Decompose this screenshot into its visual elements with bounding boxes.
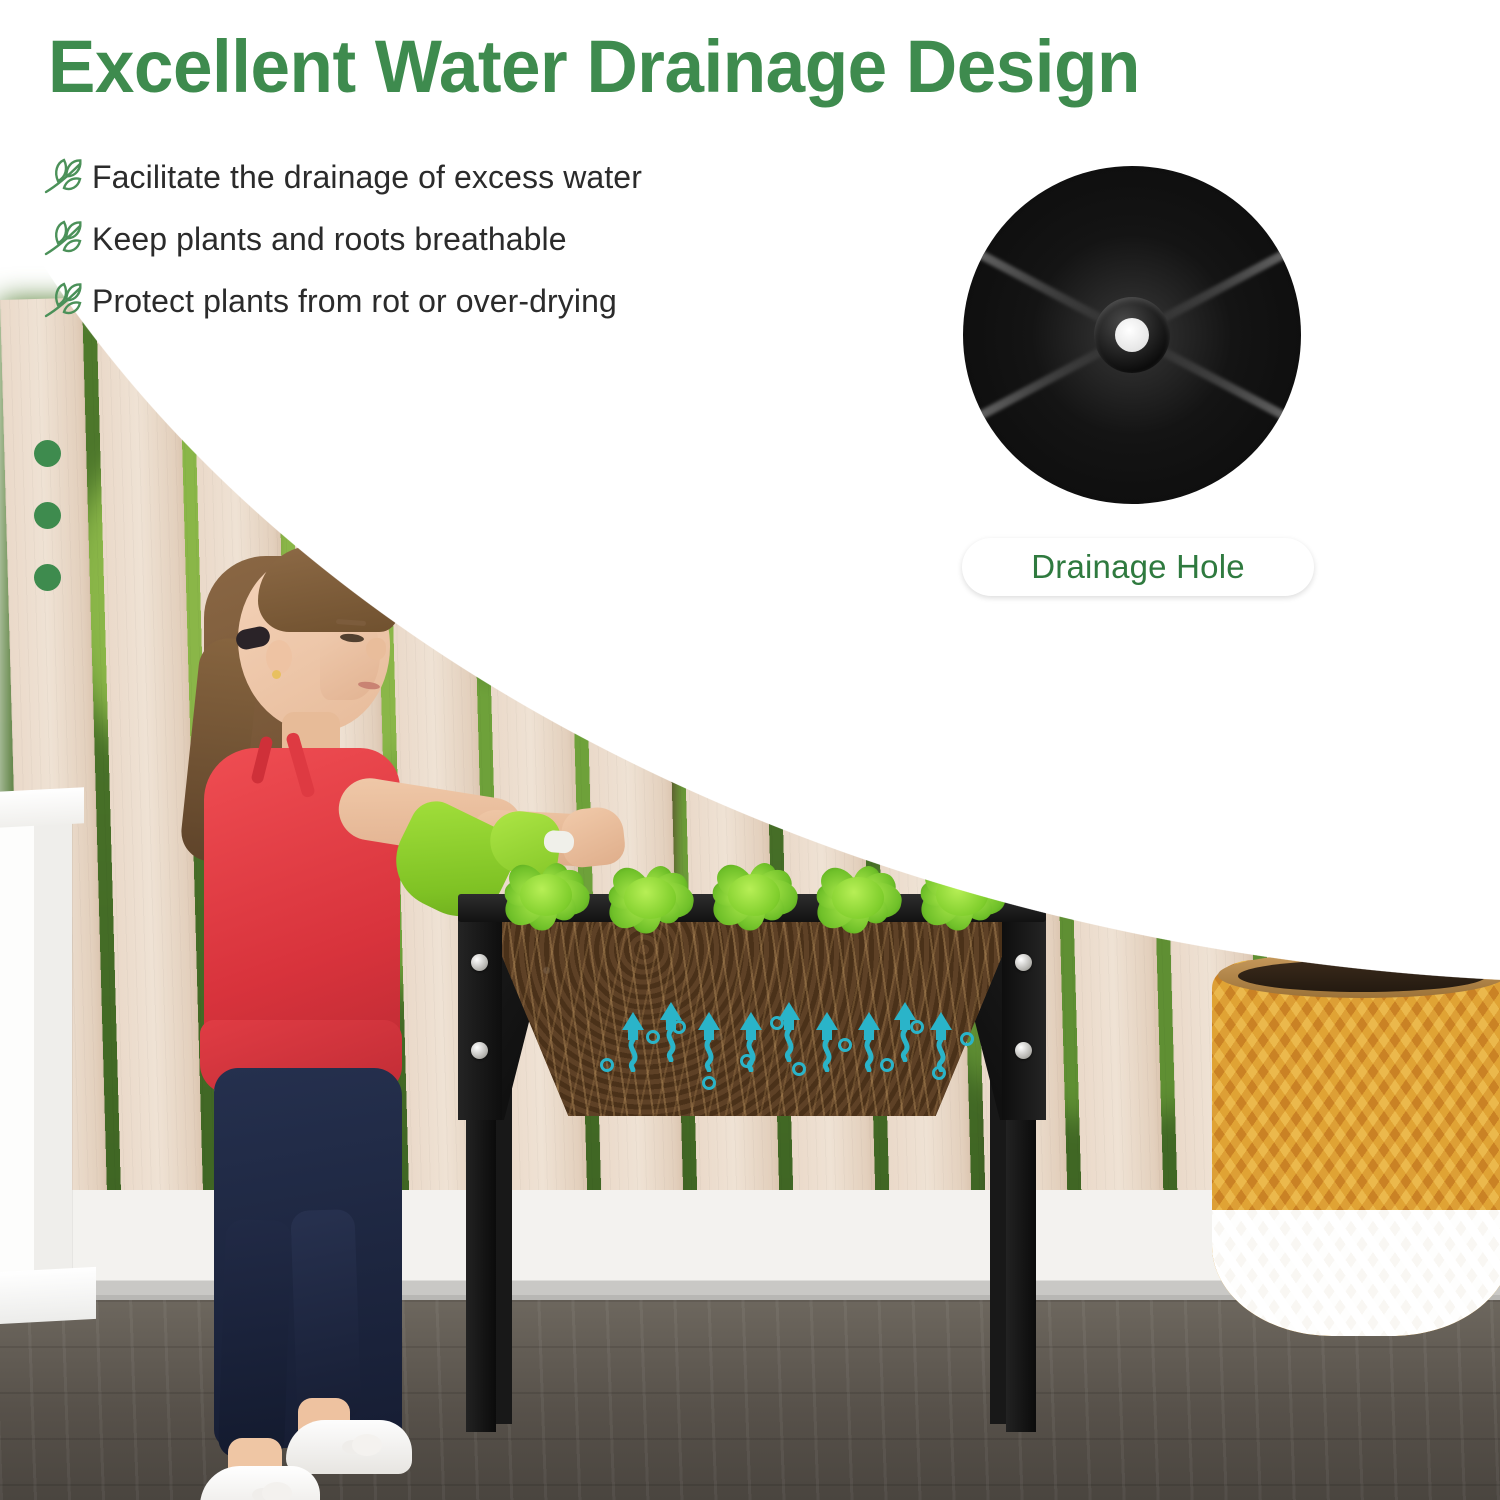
plant-core	[520, 874, 572, 916]
planter-leg-front-right	[1006, 1072, 1036, 1432]
frond-leaflet	[1081, 637, 1125, 648]
deck-railing-cap	[0, 787, 84, 828]
air-bubble	[880, 1058, 894, 1072]
air-bubble	[600, 1058, 614, 1072]
feature-list: Facilitate the drainage of excess water …	[36, 146, 836, 332]
planter-leg-front-left	[466, 1072, 496, 1432]
decorative-dot	[34, 440, 61, 467]
airflow-arrow	[856, 1010, 882, 1072]
frond-leaflet	[1102, 618, 1152, 628]
lettuce-plant	[694, 858, 812, 942]
basket-soil	[1238, 960, 1486, 992]
frond-leaflet	[1414, 670, 1450, 680]
decorative-dot-group	[34, 440, 61, 626]
leg-left	[218, 1219, 292, 1459]
frond-leaflet	[1029, 687, 1059, 700]
frond-leaflet	[1299, 612, 1340, 622]
shoe-bow-left	[262, 1482, 292, 1500]
lettuce-plant	[590, 861, 708, 945]
frond-leaflet	[1114, 609, 1165, 618]
feature-item: Keep plants and roots breathable	[36, 208, 836, 270]
frond-leaflet	[1313, 604, 1356, 613]
airflow-arrow	[814, 1010, 840, 1072]
airflow-arrow	[928, 1010, 954, 1072]
deck-railing-base	[0, 1267, 96, 1325]
planter-panel-right	[1002, 912, 1046, 1120]
page-title: Excellent Water Drainage Design	[48, 28, 1267, 106]
frond-leaflet	[1364, 627, 1376, 673]
air-bubble	[702, 1076, 716, 1090]
deck-railing-post	[0, 800, 72, 1300]
plant-core	[832, 877, 884, 919]
frond-leaflet	[1071, 647, 1112, 659]
drainage-hole-opening	[1115, 318, 1149, 352]
drainage-hole-detail-circle	[963, 166, 1301, 504]
planter-panel-left	[458, 912, 502, 1120]
lettuce-plant	[486, 858, 604, 942]
plant-core	[624, 877, 676, 919]
ear	[266, 640, 292, 674]
frond-leaflet	[1327, 594, 1374, 604]
drainage-hole-callout-label: Drainage Hole	[962, 538, 1314, 596]
basket-weave-body	[1212, 960, 1500, 1336]
feature-text: Keep plants and roots breathable	[92, 221, 567, 258]
plant-core	[936, 874, 988, 916]
frond-leaflet	[1052, 696, 1064, 726]
air-bubble	[932, 1066, 946, 1080]
basket-white-band	[1212, 1210, 1500, 1336]
lettuce-plant	[902, 858, 1020, 942]
decorative-dot	[34, 502, 61, 529]
frond-leaflet	[1040, 677, 1073, 690]
planter-leg-back-left	[496, 1076, 512, 1424]
air-bubble	[740, 1054, 754, 1068]
bangs	[258, 546, 398, 632]
leaf-sprig-icon	[36, 216, 92, 262]
shoe-right	[286, 1420, 412, 1474]
rivet	[471, 954, 488, 971]
shoe-bow-right	[352, 1434, 382, 1456]
frond-leaflet	[1130, 598, 1179, 608]
leaf-sprig-icon	[36, 278, 92, 324]
frond-leaflet	[1376, 639, 1387, 683]
shoe-left	[200, 1466, 320, 1500]
frond-leaflet	[1322, 671, 1368, 680]
feature-item: Facilitate the drainage of excess water	[36, 146, 836, 208]
airflow-arrow	[776, 1000, 802, 1062]
frond-leaflet	[1387, 651, 1397, 692]
plant-core	[728, 874, 780, 916]
frond-leaflet	[1437, 693, 1468, 702]
air-bubble	[838, 1038, 852, 1052]
frond-leaflet	[1323, 324, 1332, 376]
air-bubble	[770, 1016, 784, 1030]
frond-leaflet	[1313, 339, 1323, 388]
callout-label-text: Drainage Hole	[1031, 548, 1245, 586]
leg-right	[290, 1209, 361, 1421]
feature-text: Facilitate the drainage of excess water	[92, 159, 642, 196]
air-bubble	[672, 1020, 686, 1034]
air-bubble	[646, 1030, 660, 1044]
raised-garden-bed-planter	[440, 862, 1060, 1442]
rivet	[1015, 954, 1032, 971]
woven-basket-planter	[1212, 938, 1500, 1358]
leaf-sprig-icon	[36, 154, 92, 200]
airflow-arrow	[696, 1010, 722, 1072]
planter-leg-back-right	[990, 1076, 1006, 1424]
air-bubble	[792, 1062, 806, 1076]
watering-can-spout	[543, 830, 574, 854]
feature-text: Protect plants from rot or over-drying	[92, 283, 617, 320]
rivet	[1015, 1042, 1032, 1059]
air-bubble	[960, 1032, 974, 1046]
feature-item: Protect plants from rot or over-drying	[36, 270, 836, 332]
air-bubble	[910, 1020, 924, 1034]
lettuce-plant	[798, 861, 916, 945]
airflow-arrow	[620, 1010, 646, 1072]
frond-leaflet	[1340, 585, 1390, 596]
frond-leaflet	[1092, 628, 1139, 639]
decorative-dot	[34, 564, 61, 591]
earring	[272, 670, 281, 679]
frond-leaflet	[1425, 682, 1459, 691]
rivet	[471, 1042, 488, 1059]
nose	[366, 638, 386, 660]
frond-leaflet	[1332, 313, 1342, 363]
marketing-image-canvas: Drainage Hole Excellent Water Drainage D…	[0, 0, 1500, 1500]
